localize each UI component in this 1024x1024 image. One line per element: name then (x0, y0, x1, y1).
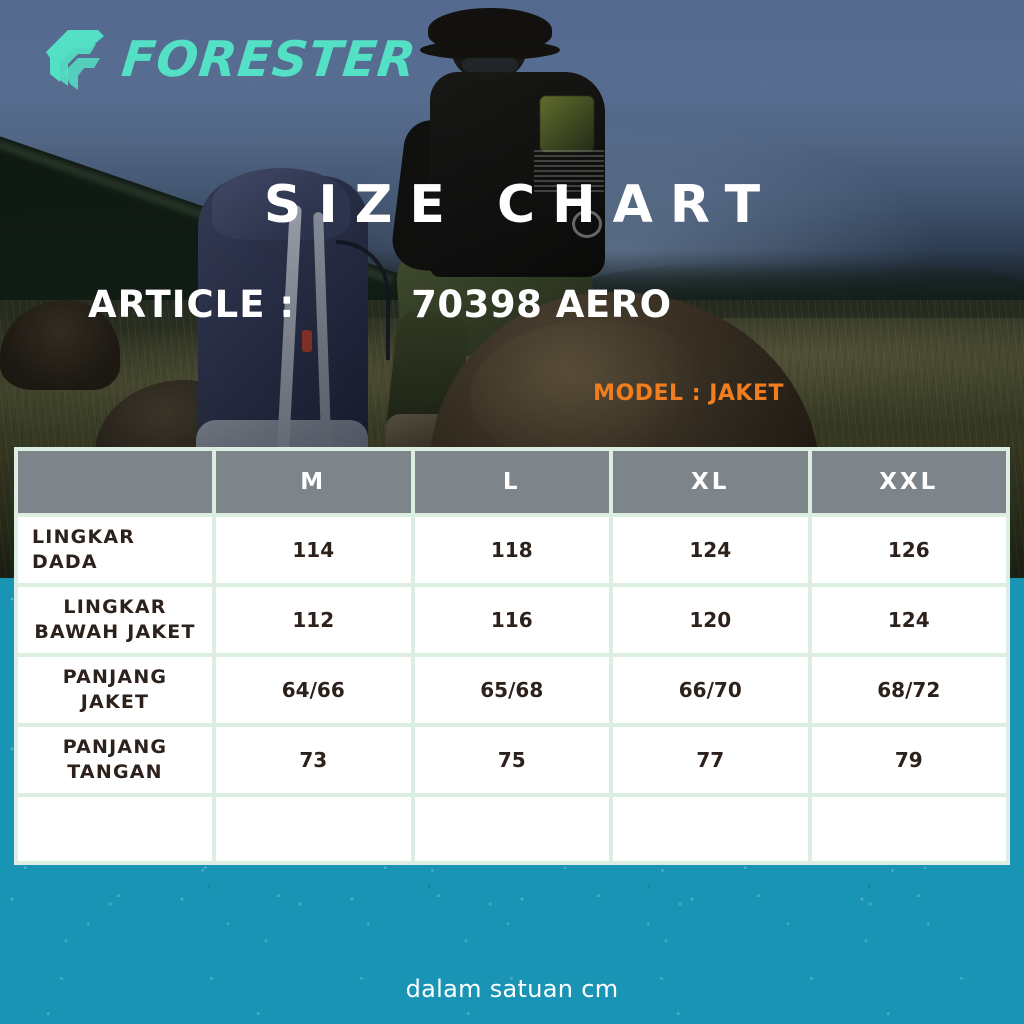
header-cell-m: M (216, 451, 411, 513)
cell-empty-m (216, 797, 411, 861)
cell-empty-xl (613, 797, 808, 861)
cell-panjang-tangan-xxl: 79 (812, 727, 1007, 793)
brand-logo: FORESTER (38, 26, 416, 92)
cell-lingkar-dada-xxl: 126 (812, 517, 1007, 583)
table-row: LINGKAR BAWAH JAKET 112 116 120 124 (18, 587, 1006, 653)
cell-panjang-tangan-m: 73 (216, 727, 411, 793)
cell-lingkar-bawah-m: 112 (216, 587, 411, 653)
table-row: PANJANG TANGAN 73 75 77 79 (18, 727, 1006, 793)
model-line: MODEL : JAKET (0, 381, 1024, 406)
page-title: SIZE CHART (0, 178, 1024, 233)
table-row: PANJANG JAKET 64/66 65/68 66/70 68/72 (18, 657, 1006, 723)
table-header-row: M L XL XXL (18, 451, 1006, 513)
cell-empty-xxl (812, 797, 1007, 861)
row-label-empty (18, 797, 212, 861)
cell-lingkar-bawah-xl: 120 (613, 587, 808, 653)
row-label-line1: PANJANG (63, 666, 167, 688)
article-row: ARTICLE : 70398 AERO (88, 283, 948, 326)
cell-lingkar-dada-xl: 124 (613, 517, 808, 583)
cell-panjang-jaket-m: 64/66 (216, 657, 411, 723)
forester-chevron-f-mark-icon (38, 26, 112, 92)
row-label-panjang-tangan: PANJANG TANGAN (18, 727, 212, 793)
size-chart-poster: FORESTER SIZE CHART ARTICLE : 70398 AERO… (0, 0, 1024, 1024)
size-table-container: M L XL XXL LINGKAR DADA 114 118 124 126 … (14, 447, 1010, 865)
brand-wordmark: FORESTER (119, 35, 418, 84)
article-label: ARTICLE : (88, 283, 295, 326)
table-row-empty (18, 797, 1006, 861)
cell-panjang-tangan-l: 75 (415, 727, 610, 793)
header-cell-blank (18, 451, 212, 513)
row-label-line1: LINGKAR (63, 596, 166, 618)
header-cell-l: L (415, 451, 610, 513)
unit-note: dalam satuan cm (0, 975, 1024, 1003)
cell-lingkar-dada-m: 114 (216, 517, 411, 583)
cell-panjang-jaket-l: 65/68 (415, 657, 610, 723)
table-row: LINGKAR DADA 114 118 124 126 (18, 517, 1006, 583)
cell-lingkar-bawah-l: 116 (415, 587, 610, 653)
cell-panjang-jaket-xxl: 68/72 (812, 657, 1007, 723)
article-value: 70398 AERO (411, 283, 671, 326)
row-label-line2: BAWAH JAKET (34, 621, 195, 643)
size-table: M L XL XXL LINGKAR DADA 114 118 124 126 … (14, 447, 1010, 865)
row-label-line2: TANGAN (67, 761, 163, 783)
cell-empty-l (415, 797, 610, 861)
row-label-lingkar-bawah-jaket: LINGKAR BAWAH JAKET (18, 587, 212, 653)
header-cell-xxl: XXL (812, 451, 1007, 513)
row-label-panjang-jaket: PANJANG JAKET (18, 657, 212, 723)
cell-panjang-tangan-xl: 77 (613, 727, 808, 793)
row-label-line1: PANJANG (63, 736, 167, 758)
cell-panjang-jaket-xl: 66/70 (613, 657, 808, 723)
row-label-line2: JAKET (81, 691, 149, 713)
cell-lingkar-dada-l: 118 (415, 517, 610, 583)
header-cell-xl: XL (613, 451, 808, 513)
cell-lingkar-bawah-xxl: 124 (812, 587, 1007, 653)
row-label-lingkar-dada: LINGKAR DADA (18, 517, 212, 583)
